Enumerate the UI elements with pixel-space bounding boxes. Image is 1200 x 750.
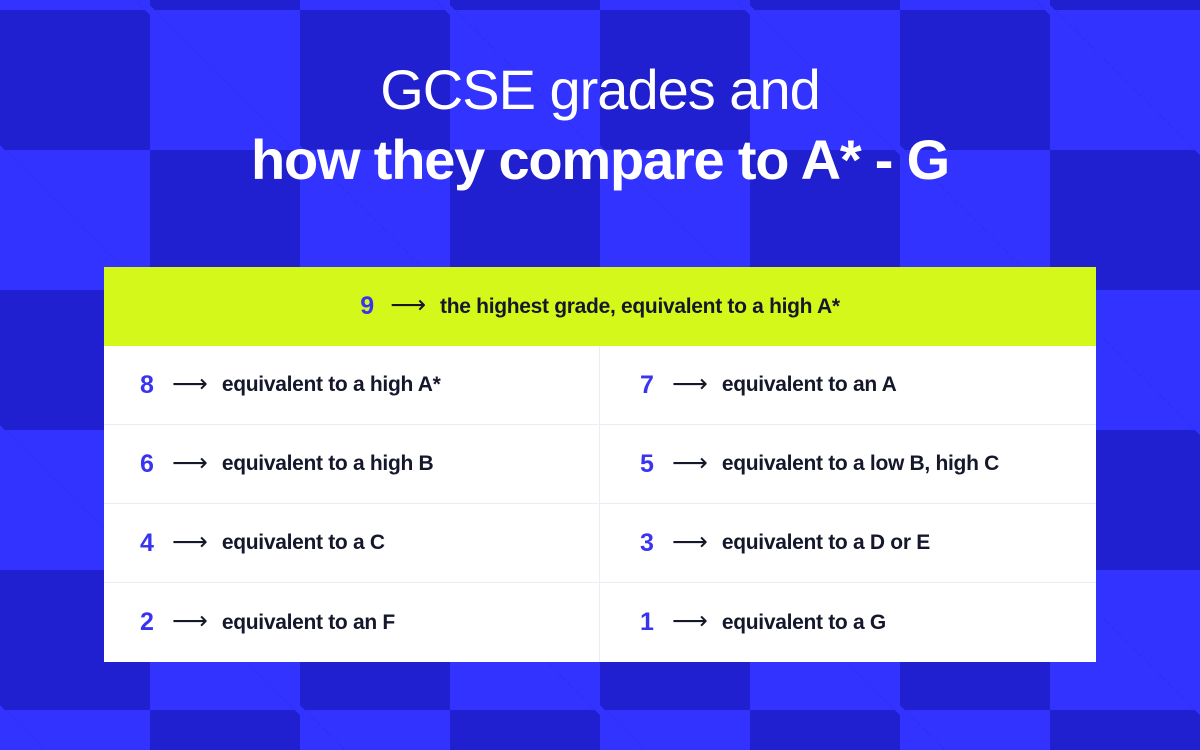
- arrow-right-icon: ⟶: [390, 293, 426, 318]
- grade-description: the highest grade, equivalent to a high …: [440, 295, 840, 319]
- grade-number: 4: [140, 531, 158, 556]
- grade-number: 7: [640, 373, 658, 398]
- arrow-right-icon: ⟶: [672, 372, 708, 397]
- arrow-right-icon: ⟶: [672, 530, 708, 555]
- grade-row: 6 ⟶ equivalent to a high B: [104, 425, 600, 504]
- grade-row: 3 ⟶ equivalent to a D or E: [600, 504, 1096, 583]
- grade-description: equivalent to a C: [222, 531, 385, 555]
- grade-row: 8 ⟶ equivalent to a high A*: [104, 346, 600, 425]
- grade-row: 4 ⟶ equivalent to a C: [104, 504, 600, 583]
- grade-number: 5: [640, 452, 658, 477]
- grade-description: equivalent to a G: [722, 611, 886, 635]
- arrow-right-icon: ⟶: [172, 451, 208, 476]
- arrow-right-icon: ⟶: [672, 451, 708, 476]
- arrow-right-icon: ⟶: [172, 372, 208, 397]
- grade-number: 2: [140, 610, 158, 635]
- infographic-poster: GCSE grades and how they compare to A* -…: [0, 0, 1200, 750]
- grade-number: 1: [640, 610, 658, 635]
- grade-row: 7 ⟶ equivalent to an A: [600, 346, 1096, 425]
- grade-row: 5 ⟶ equivalent to a low B, high C: [600, 425, 1096, 504]
- grade-number: 8: [140, 373, 158, 398]
- highlighted-grade-row: 9 ⟶ the highest grade, equivalent to a h…: [104, 267, 1096, 346]
- grade-description: equivalent to a high A*: [222, 373, 441, 397]
- arrow-right-icon: ⟶: [172, 609, 208, 634]
- grade-number: 9: [360, 294, 374, 319]
- grade-description: equivalent to a high B: [222, 452, 434, 476]
- grade-number: 3: [640, 531, 658, 556]
- title-line-2: how they compare to A* - G: [0, 132, 1200, 188]
- grades-card: 9 ⟶ the highest grade, equivalent to a h…: [104, 267, 1096, 662]
- grade-description: equivalent to an A: [722, 373, 897, 397]
- grade-description: equivalent to an F: [222, 611, 395, 635]
- grade-row: 1 ⟶ equivalent to a G: [600, 583, 1096, 662]
- arrow-right-icon: ⟶: [672, 609, 708, 634]
- title-line-1: GCSE grades and: [0, 62, 1200, 118]
- page-title: GCSE grades and how they compare to A* -…: [0, 62, 1200, 188]
- grade-number: 6: [140, 452, 158, 477]
- grade-description: equivalent to a low B, high C: [722, 452, 999, 476]
- arrow-right-icon: ⟶: [172, 530, 208, 555]
- grades-grid: 8 ⟶ equivalent to a high A* 7 ⟶ equivale…: [104, 346, 1096, 662]
- grade-description: equivalent to a D or E: [722, 531, 930, 555]
- grade-row: 2 ⟶ equivalent to an F: [104, 583, 600, 662]
